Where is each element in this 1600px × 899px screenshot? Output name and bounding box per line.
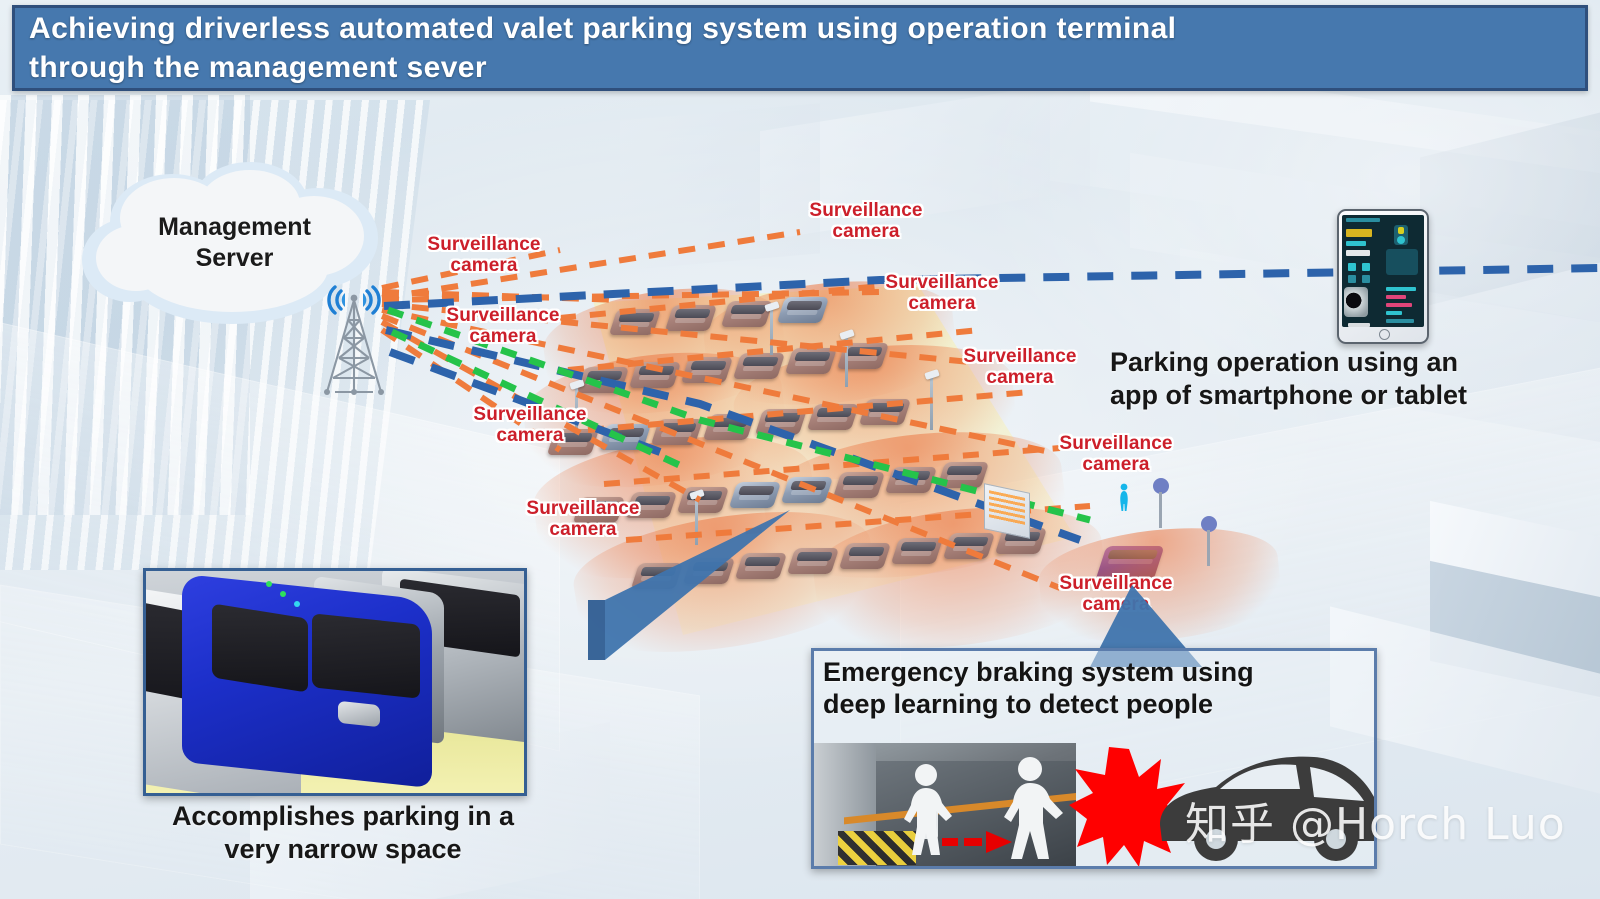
- sensor-indicator: [280, 591, 286, 597]
- autonomous-car-headlight: [338, 701, 380, 727]
- camera-pole: [930, 375, 933, 430]
- parked-car: [733, 353, 785, 379]
- parked-car: [703, 414, 755, 440]
- left-inset-caption: Accomplishes parking in a very narrow sp…: [128, 800, 558, 866]
- parked-car: [777, 297, 829, 323]
- parked-car: [833, 472, 885, 498]
- sign-post-icon: [1200, 516, 1218, 566]
- narrow-parking-inset: [143, 568, 527, 796]
- surveillance-camera-label: Surveillance camera: [940, 346, 1100, 389]
- motion-arrow-icon: [942, 829, 1016, 855]
- slide-title-bar: Achieving driverless automated valet par…: [12, 5, 1588, 91]
- parked-car: [943, 533, 995, 559]
- surveillance-camera-label: Surveillance camera: [862, 272, 1022, 315]
- parked-car: [629, 362, 681, 388]
- camera-pole: [845, 335, 848, 387]
- parked-car: [577, 367, 629, 393]
- parked-car: [807, 404, 859, 430]
- cloud-label: Management Server: [82, 212, 387, 273]
- sign-post-icon: [1152, 478, 1170, 528]
- tablet-caption: Parking operation using an app of smartp…: [1110, 346, 1600, 412]
- parked-car: [859, 399, 911, 425]
- parked-car: [785, 348, 837, 374]
- parked-car: [937, 462, 989, 488]
- slide-canvas: Achieving driverless automated valet par…: [0, 0, 1600, 899]
- parked-car: [787, 548, 839, 574]
- parked-car: [891, 538, 943, 564]
- detection-photo: [814, 743, 1076, 866]
- autonomous-car-windshield: [312, 613, 420, 698]
- surveillance-camera-label: Surveillance camera: [404, 234, 564, 277]
- parked-car: [755, 409, 807, 435]
- camera-pole: [770, 307, 773, 355]
- surveillance-camera-label: Surveillance camera: [1036, 433, 1196, 476]
- parking-kiosk-icon: [984, 488, 1030, 534]
- watermark: 知乎 @Horch Luo: [1185, 788, 1566, 852]
- tablet-home-button[interactable]: [1379, 329, 1390, 340]
- surveillance-camera-label: Surveillance camera: [450, 404, 610, 447]
- parked-car: [885, 467, 937, 493]
- parked-car: [781, 477, 833, 503]
- wireless-signal-icon: [305, 282, 403, 397]
- parked-car: [609, 309, 661, 335]
- surveillance-camera-label: Surveillance camera: [423, 305, 583, 348]
- callout-wedge: [500, 505, 790, 685]
- radio-tower: [305, 282, 403, 397]
- tablet-device-icon[interactable]: [1337, 209, 1429, 344]
- parked-car: [681, 357, 733, 383]
- autonomous-car-window: [212, 603, 308, 692]
- right-inset-caption: Emergency braking system using deep lear…: [823, 657, 1368, 721]
- page-title: Achieving driverless automated valet par…: [29, 9, 1176, 87]
- surveillance-camera-label: Surveillance camera: [786, 200, 946, 243]
- parked-car: [665, 305, 717, 331]
- parked-car: [651, 419, 703, 445]
- pedestrian-icon: [1117, 483, 1131, 511]
- sensor-indicator: [294, 601, 300, 607]
- tablet-screen: [1342, 215, 1424, 327]
- sensor-indicator: [266, 581, 272, 587]
- parked-car: [839, 543, 891, 569]
